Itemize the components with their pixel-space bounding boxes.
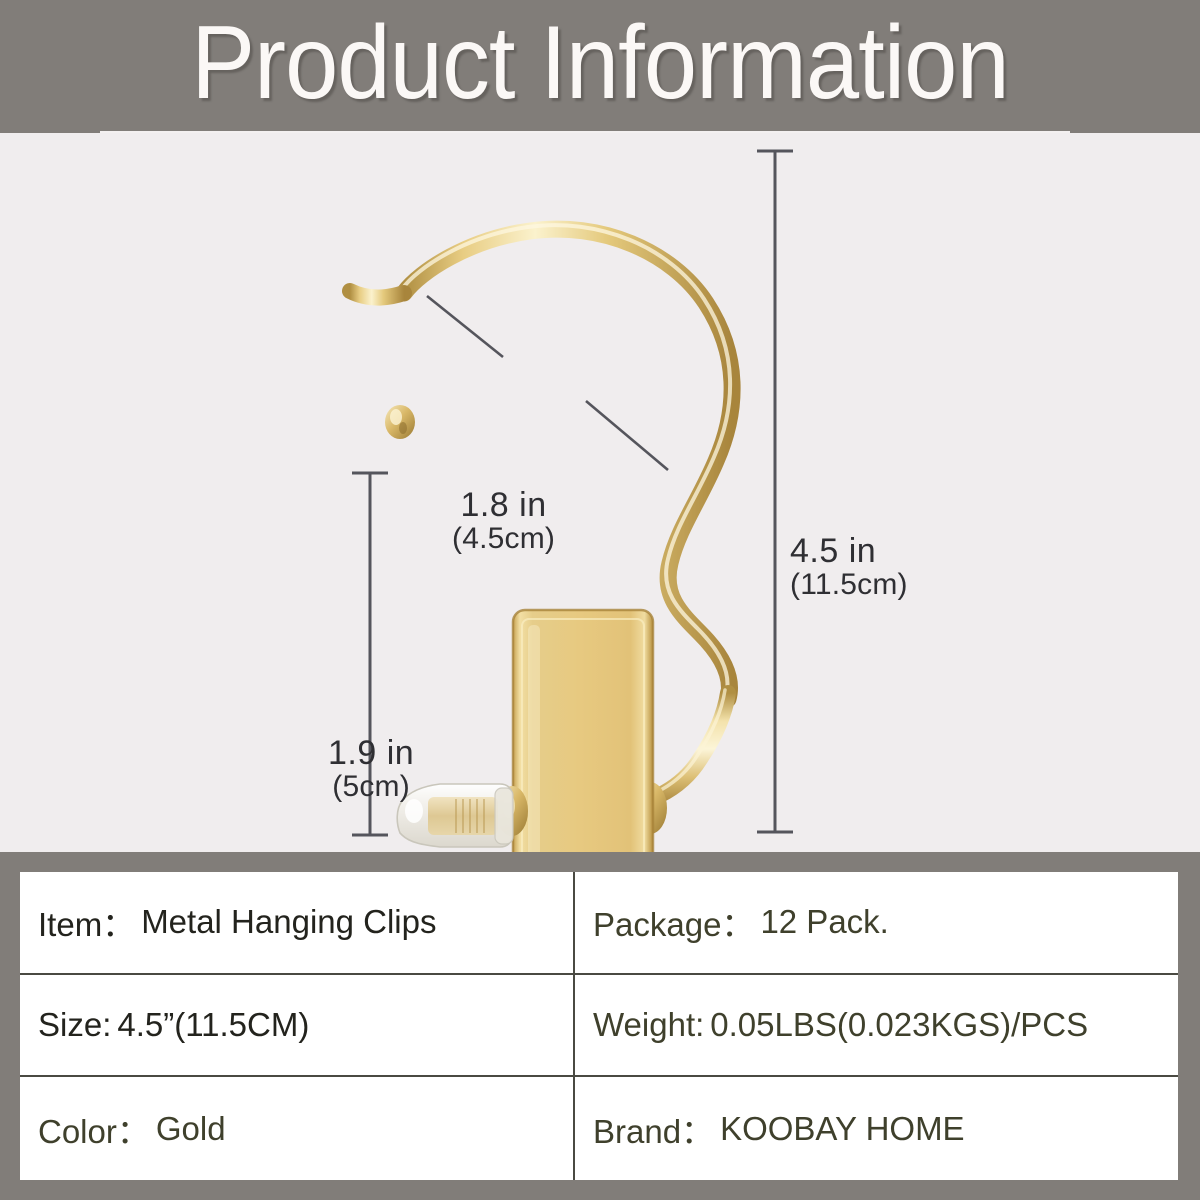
table-row: Color： Gold: [20, 1077, 575, 1180]
table-row: Weight: 0.05LBS(0.023KGS)/PCS: [575, 975, 1178, 1078]
table-row: Item： Metal Hanging Clips: [20, 872, 575, 975]
dimension-label-width: 1.8 in (4.5cm): [452, 487, 555, 555]
dimension-leader-width: [427, 296, 668, 470]
hook-ball-tip-icon: [385, 405, 415, 439]
product-photo-stage: 1.8 in (4.5cm) 4.5 in (11.5cm) 1.9 in (5…: [0, 133, 1200, 852]
spec-key-package: Package：: [593, 898, 754, 946]
product-information-page: Product Information: [0, 0, 1200, 1200]
spec-key-size: Size:: [38, 1006, 111, 1044]
table-row: Package： 12 Pack.: [575, 872, 1178, 975]
spec-value-item: Metal Hanging Clips: [141, 903, 436, 941]
dimension-clip-secondary: (5cm): [328, 771, 414, 803]
spec-value-color: Gold: [156, 1110, 226, 1148]
clear-spring-tip-icon: [397, 784, 513, 847]
table-row: Size: 4.5”(11.5CM): [20, 975, 575, 1078]
dimension-label-height: 4.5 in (11.5cm): [790, 533, 908, 601]
page-title: Product Information: [48, 0, 1152, 133]
specification-section: Item： Metal Hanging Clips Package： 12 Pa…: [0, 852, 1200, 1200]
spec-value-weight: 0.05LBS(0.023KGS)/PCS: [710, 1006, 1088, 1044]
spec-value-brand: KOOBAY HOME: [720, 1110, 965, 1148]
spec-value-package: 12 Pack.: [760, 903, 888, 941]
specification-table: Item： Metal Hanging Clips Package： 12 Pa…: [20, 872, 1178, 1180]
hook-tip-arm-icon: [350, 291, 404, 297]
dimension-label-clip: 1.9 in (5cm): [328, 735, 414, 803]
spec-key-weight: Weight:: [593, 1006, 704, 1044]
dimension-width-primary: 1.8 in: [452, 487, 555, 523]
product-illustration: [0, 133, 1200, 852]
dimension-height-secondary: (11.5cm): [790, 569, 908, 601]
spec-value-size: 4.5”(11.5CM): [117, 1006, 309, 1044]
dimension-clip-primary: 1.9 in: [328, 735, 414, 771]
table-row: Brand： KOOBAY HOME: [575, 1077, 1178, 1180]
spec-key-item: Item：: [38, 898, 135, 946]
dimension-height-primary: 4.5 in: [790, 533, 908, 569]
dimension-width-secondary: (4.5cm): [452, 523, 555, 555]
clip-body-icon: [513, 610, 653, 852]
spec-key-brand: Brand：: [593, 1105, 714, 1153]
dimension-line-height: [757, 150, 793, 833]
spec-key-color: Color：: [38, 1105, 150, 1153]
